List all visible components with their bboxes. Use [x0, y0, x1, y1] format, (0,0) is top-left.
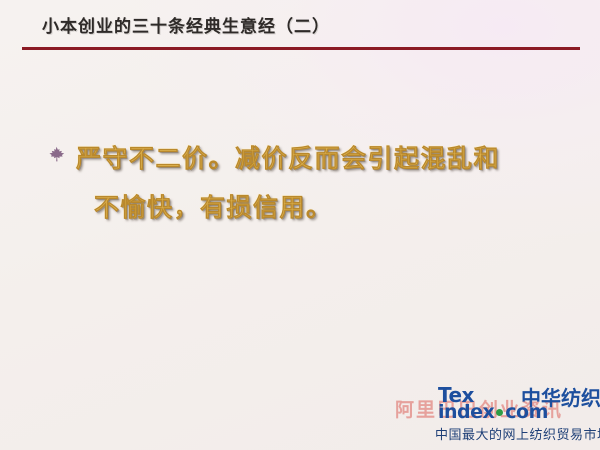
- slide-title-block: 小本创业的三十条经典生意经（二）: [0, 12, 600, 56]
- bullet-text-line-2: 不愉快，有损信用。: [76, 183, 574, 232]
- texindex-logo: Tex 中华纺织网 indexcom: [438, 382, 598, 430]
- page-title: 小本创业的三十条经典生意经（二）: [42, 12, 330, 37]
- logo-index-text: index: [438, 401, 494, 423]
- logo-domain-text: indexcom: [438, 401, 548, 423]
- bullet-text: 严守不二价。减价反而会引起混乱和 不愉快，有损信用。: [44, 134, 574, 232]
- presentation-slide: 小本创业的三十条经典生意经（二） 严守不二价。减价反而会引起混乱和 不愉快，有损…: [0, 0, 600, 450]
- maple-leaf-bullet-icon: [48, 146, 65, 163]
- logo-com-text: com: [505, 401, 548, 423]
- logo-tagline: 中国最大的网上纺织贸易市场: [435, 424, 600, 443]
- logo-green-dot-icon: [496, 409, 503, 416]
- bullet-text-line-1: 严守不二价。减价反而会引起混乱和: [76, 144, 500, 173]
- title-underline-rule: [22, 47, 580, 50]
- watermark-group: 阿里巴巴创业资讯 Tex 中华纺织网 indexcom 中国最大的网上纺织贸易市…: [390, 382, 600, 448]
- bullet-item: 严守不二价。减价反而会引起混乱和 不愉快，有损信用。: [44, 134, 574, 232]
